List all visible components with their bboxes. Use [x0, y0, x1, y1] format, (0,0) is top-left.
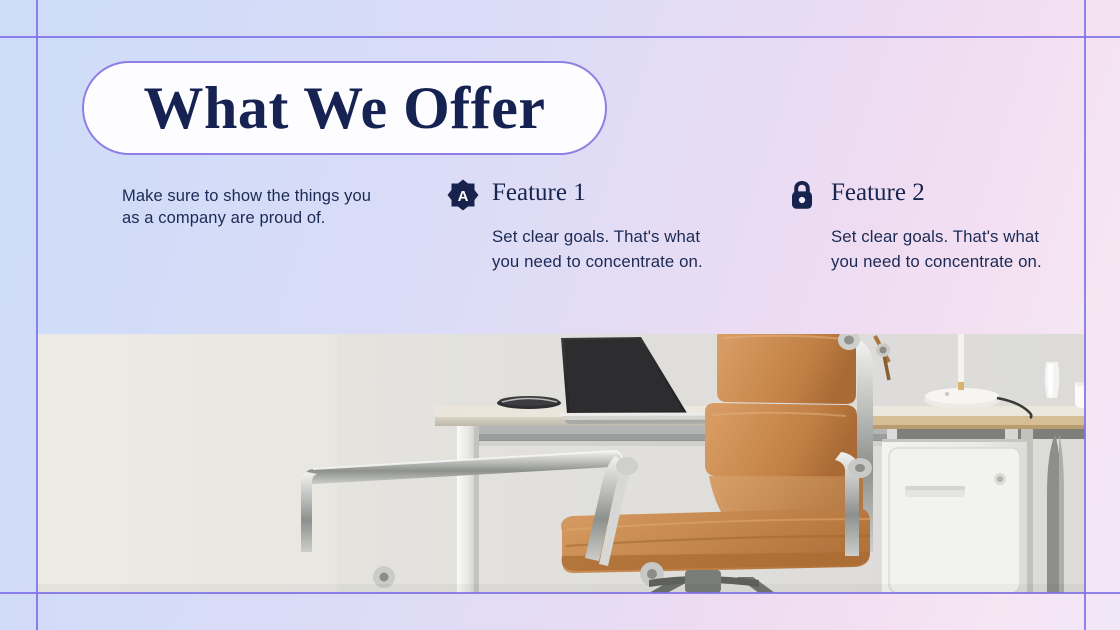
- content-band: Make sure to show the things you as a co…: [0, 170, 1120, 320]
- lock-icon: [786, 179, 818, 211]
- guide-line-horizontal-top: [0, 36, 1120, 38]
- slide-title-pill: What We Offer: [82, 61, 607, 155]
- feature-2-body: Set clear goals. That's what you need to…: [831, 225, 1066, 274]
- slide-canvas: What We Offer Make sure to show the thin…: [0, 0, 1120, 630]
- star-badge-letter: A: [458, 188, 469, 205]
- star-badge-a-icon: A: [447, 179, 479, 211]
- feature-2-title: Feature 2: [831, 178, 925, 208]
- intro-paragraph: Make sure to show the things you as a co…: [122, 186, 372, 229]
- feature-block-2: Feature 2 Set clear goals. That's what y…: [786, 178, 1066, 274]
- office-photo: [37, 334, 1085, 593]
- feature-2-header: Feature 2: [786, 178, 1066, 212]
- feature-block-1: A Feature 1 Set clear goals. That's what…: [447, 178, 727, 274]
- feature-1-title: Feature 1: [492, 178, 586, 208]
- page-title: What We Offer: [144, 78, 546, 138]
- feature-1-header: A Feature 1: [447, 178, 727, 212]
- feature-1-body: Set clear goals. That's what you need to…: [492, 225, 727, 274]
